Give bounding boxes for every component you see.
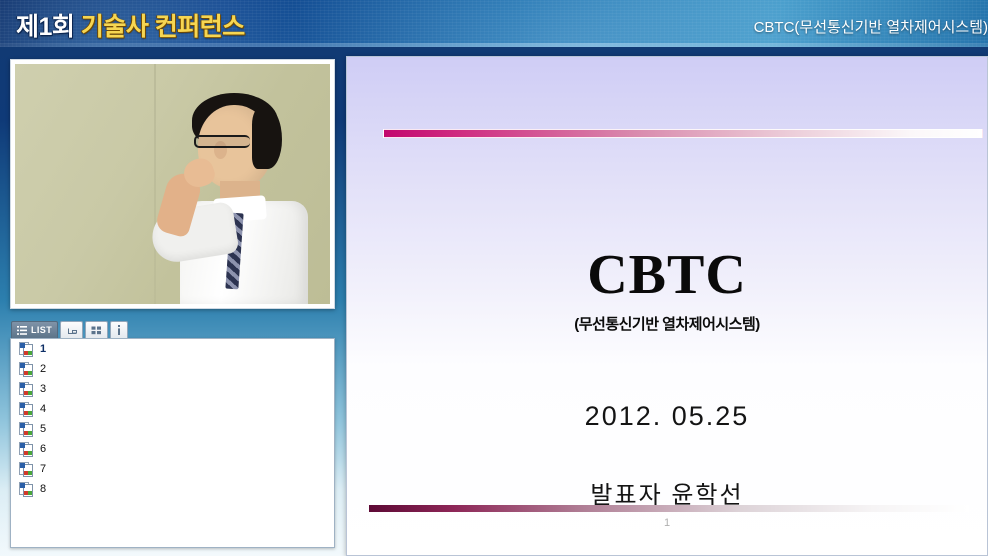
slide-icon [19, 482, 33, 497]
session-title: CBTC(무선통신기반 열차제어시스템) [754, 16, 988, 37]
list-item-label: 8 [40, 483, 46, 495]
page-header: 제1회 기술사 컨퍼런스 CBTC(무선통신기반 열차제어시스템) [0, 0, 988, 47]
slide-icon [19, 342, 33, 357]
slide-accent-top [383, 129, 983, 138]
list-item-label: 3 [40, 383, 46, 395]
video-frame [15, 64, 330, 304]
slide-icon [19, 462, 33, 477]
list-item[interactable]: 5 [11, 419, 334, 439]
slide-subtitle: (무선통신기반 열차제어시스템) [347, 313, 987, 334]
tab-list-label: LIST [31, 325, 52, 335]
list-item[interactable]: 8 [11, 479, 334, 499]
list-item-label: 6 [40, 443, 46, 455]
list-item-label: 7 [40, 463, 46, 475]
presenter-hair-back [252, 107, 282, 169]
slide-icon [19, 362, 33, 377]
list-item[interactable]: 2 [11, 359, 334, 379]
slide-page-number: 1 [347, 517, 987, 529]
header-bottom-streak [0, 43, 988, 47]
player-page: 제1회 기술사 컨퍼런스 CBTC(무선통신기반 열차제어시스템) [0, 0, 988, 556]
conference-title-lead: 제1회 [16, 13, 74, 41]
tab-outline[interactable] [60, 321, 83, 338]
slide-list[interactable]: 1 2 3 4 [10, 338, 335, 548]
list-item-label: 1 [40, 343, 46, 355]
tab-grid[interactable] [85, 321, 108, 338]
tree-icon [66, 325, 77, 335]
list-item[interactable]: 6 [11, 439, 334, 459]
slide-list-panel: LIST [10, 320, 335, 548]
slide-icon [19, 422, 33, 437]
list-item-label: 4 [40, 403, 46, 415]
grid-icon [91, 326, 102, 335]
slide-accent-bottom [369, 505, 969, 512]
glasses-icon [194, 135, 250, 148]
video-player[interactable] [10, 59, 335, 309]
info-icon [116, 325, 122, 335]
slide-icon [19, 402, 33, 417]
slide-icon [19, 442, 33, 457]
list-icon [17, 326, 27, 335]
sidebar-tabbar: LIST [10, 320, 335, 338]
list-item[interactable]: 3 [11, 379, 334, 399]
slide-date: 2012. 05.25 [347, 401, 987, 432]
list-item-label: 2 [40, 363, 46, 375]
tab-info[interactable] [110, 321, 128, 338]
conference-title: 제1회 기술사 컨퍼런스 [16, 7, 245, 43]
list-item[interactable]: 4 [11, 399, 334, 419]
slide-viewer[interactable]: CBTC (무선통신기반 열차제어시스템) 2012. 05.25 발표자 윤학… [346, 56, 988, 556]
tab-list[interactable]: LIST [11, 321, 58, 338]
slide-icon [19, 382, 33, 397]
list-item[interactable]: 1 [11, 339, 334, 359]
conference-title-main: 기술사 컨퍼런스 [81, 13, 245, 41]
presenter-figure [156, 89, 316, 304]
slide-title: CBTC [347, 247, 987, 303]
list-item-label: 5 [40, 423, 46, 435]
list-item[interactable]: 7 [11, 459, 334, 479]
